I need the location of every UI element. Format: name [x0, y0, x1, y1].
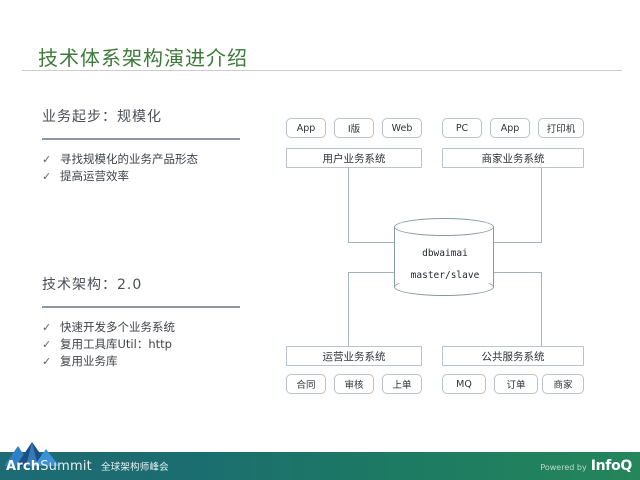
client-node-iban[interactable]: I版	[334, 118, 374, 138]
powered-by: Powered by InfoQ	[540, 458, 632, 474]
module-node-order[interactable]: 订单	[494, 374, 538, 394]
architecture-diagram: App I版 Web PC App 打印机 用户业务系统 商家业务系统 dbwa…	[276, 104, 616, 400]
check-icon: ✓	[42, 353, 60, 370]
connector-ops-system-vertical	[348, 272, 349, 346]
system-node-user-business[interactable]: 用户业务系统	[286, 148, 422, 168]
content-block-business: 业务起步：规模化 ✓ 寻找规模化的业务产品形态 ✓ 提高运营效率	[42, 106, 258, 185]
connector-public-system-vertical	[541, 272, 542, 346]
brand-summit-text: Summit	[40, 459, 92, 474]
connector-merchant-system-to-db	[494, 242, 542, 243]
module-node-order-entry[interactable]: 上单	[382, 374, 422, 394]
client-node-app-user[interactable]: App	[286, 118, 326, 138]
cylinder-top	[394, 218, 494, 236]
block-divider-business	[42, 138, 240, 140]
powered-by-label: Powered by	[540, 463, 586, 472]
infoq-logo-text: InfoQ	[591, 458, 632, 474]
client-node-pc[interactable]: PC	[442, 118, 482, 138]
database-node[interactable]: dbwaimai master/slave	[394, 218, 496, 296]
connector-db-to-public	[494, 272, 542, 273]
list-item: ✓ 提高运营效率	[42, 168, 258, 185]
list-item: ✓ 复用业务库	[42, 353, 258, 370]
bullet-list-business: ✓ 寻找规模化的业务产品形态 ✓ 提高运营效率	[42, 151, 258, 185]
check-icon: ✓	[42, 151, 60, 168]
bullet-list-architecture: ✓ 快速开发多个业务系统 ✓ 复用工具库Util：http ✓ 复用业务库	[42, 319, 258, 370]
bullet-text: 寻找规模化的业务产品形态	[60, 151, 198, 168]
module-node-review[interactable]: 审核	[334, 374, 374, 394]
client-node-printer[interactable]: 打印机	[538, 118, 584, 138]
slide-root: 技术体系架构演进介绍 业务起步：规模化 ✓ 寻找规模化的业务产品形态 ✓ 提高运…	[0, 0, 640, 480]
connector-user-system-to-db	[348, 242, 396, 243]
client-node-app-merchant[interactable]: App	[490, 118, 530, 138]
brand-chinese-text: 全球架构师峰会	[101, 459, 169, 473]
system-node-public-service[interactable]: 公共服务系统	[442, 346, 584, 366]
database-mode: master/slave	[394, 270, 496, 281]
connector-db-to-ops	[348, 272, 396, 273]
module-node-contract[interactable]: 合同	[286, 374, 326, 394]
system-node-merchant-business[interactable]: 商家业务系统	[442, 148, 584, 168]
client-node-web[interactable]: Web	[382, 118, 422, 138]
brand-arch-text: Arch	[6, 459, 40, 474]
bullet-text: 复用业务库	[60, 353, 118, 370]
bullet-text: 提高运营效率	[60, 168, 129, 185]
module-node-mq[interactable]: MQ	[442, 374, 486, 394]
list-item: ✓ 快速开发多个业务系统	[42, 319, 258, 336]
bullet-text: 复用工具库Util：http	[60, 336, 172, 353]
check-icon: ✓	[42, 168, 60, 185]
archsummit-brand: Arch Summit 全球架构师峰会	[6, 459, 169, 474]
page-title: 技术体系架构演进介绍	[38, 42, 248, 71]
block-heading-architecture: 技术架构：2.0	[42, 274, 258, 294]
check-icon: ✓	[42, 336, 60, 353]
bullet-text: 快速开发多个业务系统	[60, 319, 175, 336]
block-divider-architecture	[42, 306, 240, 308]
database-name: dbwaimai	[394, 248, 496, 259]
list-item: ✓ 寻找规模化的业务产品形态	[42, 151, 258, 168]
check-icon: ✓	[42, 319, 60, 336]
module-node-merchant[interactable]: 商家	[542, 374, 584, 394]
list-item: ✓ 复用工具库Util：http	[42, 336, 258, 353]
title-divider	[22, 70, 622, 71]
system-node-operations-business[interactable]: 运营业务系统	[286, 346, 422, 366]
block-heading-business: 业务起步：规模化	[42, 106, 258, 126]
content-block-architecture: 技术架构：2.0 ✓ 快速开发多个业务系统 ✓ 复用工具库Util：http ✓…	[42, 274, 258, 370]
